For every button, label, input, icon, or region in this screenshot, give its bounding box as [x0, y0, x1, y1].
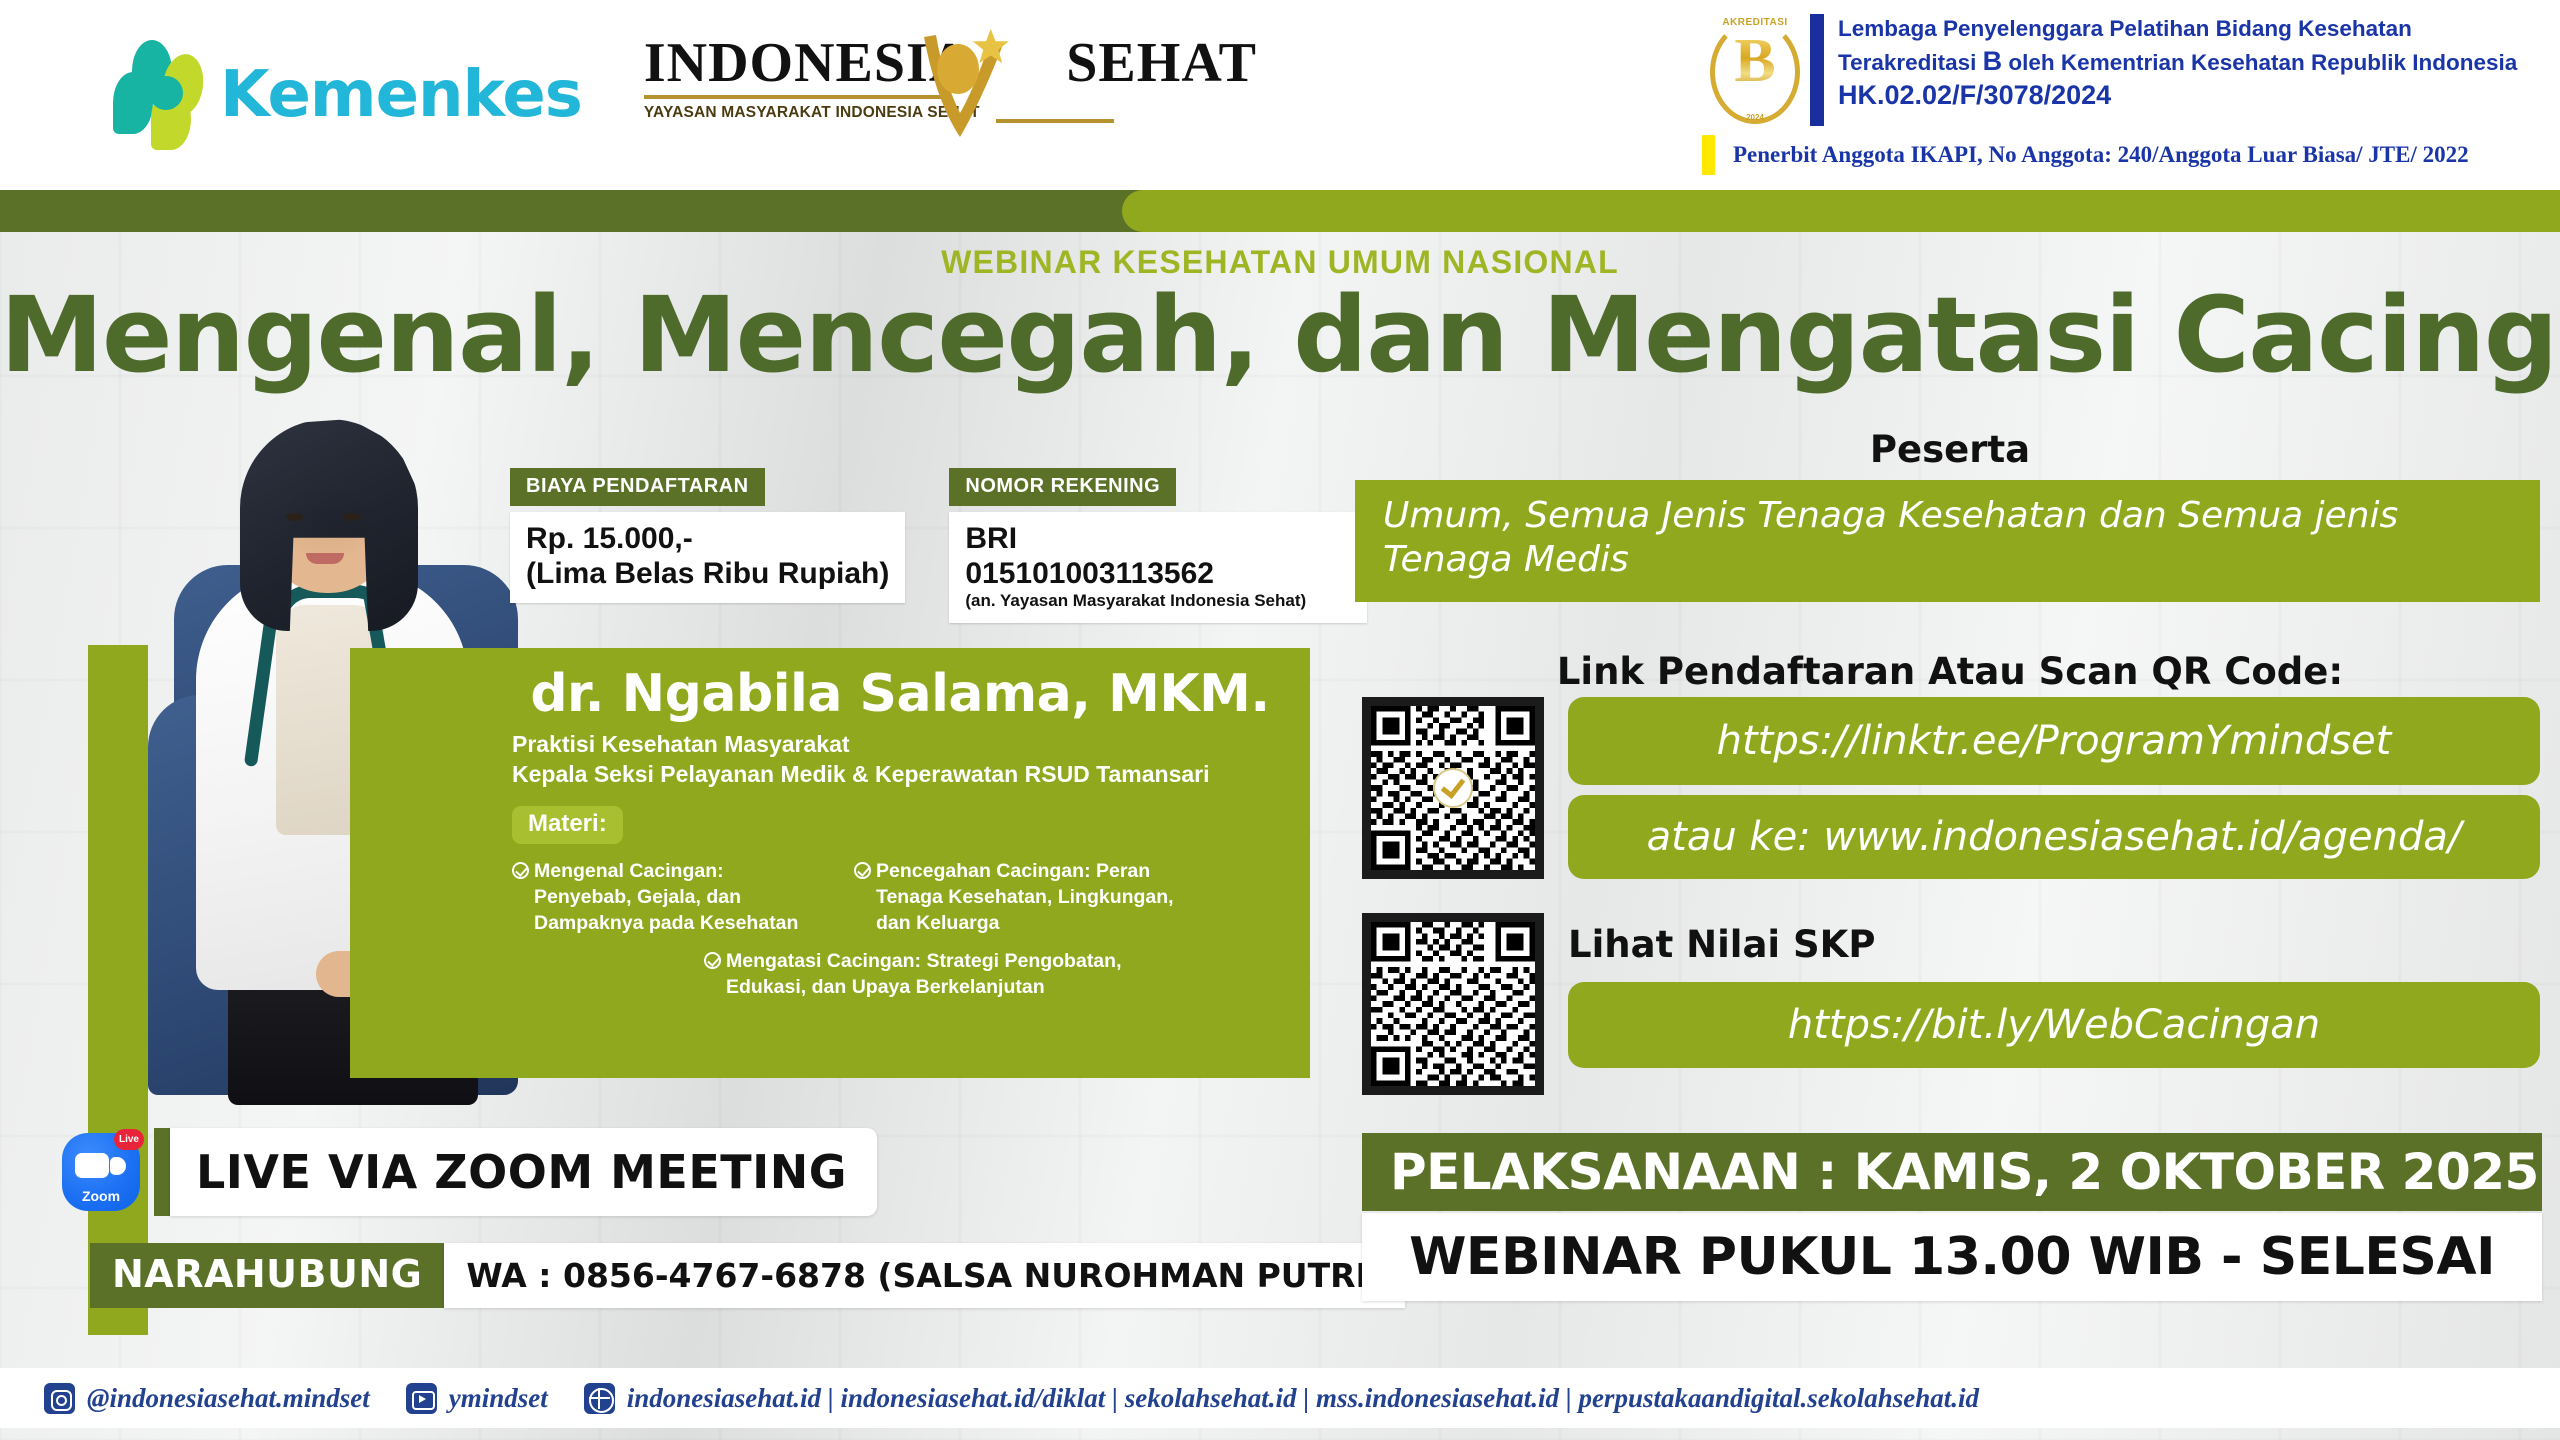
contact-row: NARAHUBUNG WA : 0856-4767-6878 (SALSA NU…	[90, 1243, 1405, 1308]
bank-name: BRI	[965, 522, 1351, 557]
schedule-date-box: PELAKSANAAN : KAMIS, 2 OKTOBER 2025	[1362, 1133, 2542, 1211]
kemenkes-mark-icon	[105, 40, 210, 150]
registration-qr-code[interactable]	[1362, 697, 1544, 879]
check-icon	[512, 862, 529, 879]
schedule-date: PELAKSANAAN : KAMIS, 2 OKTOBER 2025	[1390, 1143, 2539, 1201]
speaker-role-2: Kepala Seksi Pelayanan Medik & Keperawat…	[512, 760, 1288, 790]
topics-list: Mengenal Cacingan: Penyebab, Gejala, dan…	[512, 858, 1288, 1001]
account-holder: (an. Yayasan Masyarakat Indonesia Sehat)	[965, 591, 1351, 611]
check-icon	[854, 862, 871, 879]
fee-amount: Rp. 15.000,-	[526, 522, 889, 557]
live-badge: Live	[114, 1129, 144, 1150]
account-tag-label: NOMOR REKENING	[949, 468, 1176, 506]
kemenkes-logo: Kemenkes	[105, 40, 582, 150]
poster-background: Kemenkes INDONESIA SEHAT YAYASAN MASYARA…	[0, 0, 2560, 1440]
footer-item-youtube[interactable]: ymindset	[406, 1383, 548, 1414]
contact-value-box[interactable]: WA : 0856-4767-6878 (SALSA NUROHMAN PUTR…	[444, 1243, 1405, 1308]
indonesia-sehat-word2: SEHAT	[1066, 35, 1257, 91]
schedule-time-box: WEBINAR PUKUL 13.00 WIB - SELESAI	[1362, 1213, 2542, 1301]
topic-item: Mengatasi Cacingan: Strategi Pengobatan,…	[620, 948, 1180, 1000]
speaker-name: dr. Ngabila Salama, MKM.	[512, 666, 1288, 723]
registration-fee-block: BIAYA PENDAFTARAN Rp. 15.000,- (Lima Bel…	[510, 468, 905, 623]
header-divider-band	[0, 190, 2560, 232]
topic-item: Pencegahan Cacingan: Peran Tenaga Keseha…	[854, 858, 1174, 936]
accreditation-line-2: Terakreditasi B oleh Kementrian Kesehata…	[1838, 44, 2517, 80]
materi-badge: Materi:	[512, 806, 623, 844]
accreditation-block: AKREDITASI B 2024 Lembaga Penyelenggara …	[1702, 14, 2502, 175]
skp-heading: Lihat Nilai SKP	[1568, 923, 1875, 966]
poster-header: Kemenkes INDONESIA SEHAT YAYASAN MASYARA…	[0, 0, 2560, 190]
topic-item: Mengenal Cacingan: Penyebab, Gejala, dan…	[512, 858, 812, 936]
contact-whatsapp[interactable]: WA : 0856-4767-6878 (SALSA NUROHMAN PUTR…	[466, 1256, 1383, 1295]
registration-link-1[interactable]: https://linktr.ee/ProgramYmindset	[1568, 697, 2540, 785]
platform-label-box: LIVE VIA ZOOM MEETING	[170, 1128, 877, 1216]
registration-link-2[interactable]: atau ke: www.indonesiasehat.id/agenda/	[1568, 795, 2540, 879]
website-icon	[584, 1383, 615, 1414]
bank-account-block: NOMOR REKENING BRI 015101003113562 (an. …	[949, 468, 1367, 623]
registration-heading: Link Pendaftaran Atau Scan QR Code:	[1355, 650, 2545, 693]
footer-item-websites[interactable]: indonesiasehat.id | indonesiasehat.id/di…	[584, 1383, 1979, 1414]
webinar-title: Mengenal, Mencegah, dan Mengatasi Cacing…	[0, 274, 2560, 396]
accreditation-blue-bar	[1810, 14, 1824, 126]
check-icon	[704, 952, 721, 969]
platform-row: Zoom Live LIVE VIA ZOOM MEETING	[62, 1128, 877, 1216]
account-value-box: BRI 015101003113562 (an. Yayasan Masyara…	[949, 512, 1367, 623]
contact-tag-label: NARAHUBUNG	[90, 1243, 444, 1308]
ikapi-membership-line: Penerbit Anggota IKAPI, No Anggota: 240/…	[1733, 142, 2469, 168]
skp-qr-code[interactable]	[1362, 913, 1544, 1095]
checkmark-star-icon	[906, 29, 1026, 149]
qr-center-logo-icon	[1433, 768, 1473, 808]
indonesia-sehat-logo: INDONESIA SEHAT YAYASAN MASYARAKAT INDON…	[644, 35, 1114, 155]
logo-underline	[644, 95, 944, 99]
ikapi-yellow-bar	[1702, 135, 1715, 175]
speaker-panel: dr. Ngabila Salama, MKM. Praktisi Keseha…	[350, 648, 1310, 1078]
participants-heading: Peserta	[1355, 428, 2545, 471]
accreditation-line-1: Lembaga Penyelenggara Pelatihan Bidang K…	[1838, 14, 2517, 44]
accreditation-badge-icon: AKREDITASI B 2024	[1708, 14, 1802, 126]
fee-tag-label: BIAYA PENDAFTARAN	[510, 468, 765, 506]
footer-item-instagram[interactable]: @indonesiasehat.mindset	[44, 1383, 370, 1414]
participants-box: Umum, Semua Jenis Tenaga Kesehatan dan S…	[1355, 480, 2540, 602]
accreditation-number: HK.02.02/F/3078/2024	[1838, 79, 2517, 113]
skp-link[interactable]: https://bit.ly/WebCacingan	[1568, 982, 2540, 1068]
zoom-icon: Zoom Live	[62, 1133, 140, 1211]
platform-label: LIVE VIA ZOOM MEETING	[196, 1145, 847, 1199]
instagram-icon	[44, 1383, 75, 1414]
schedule-time: WEBINAR PUKUL 13.00 WIB - SELESAI	[1409, 1227, 2495, 1287]
fee-value-box: Rp. 15.000,- (Lima Belas Ribu Rupiah)	[510, 512, 905, 603]
youtube-icon	[406, 1383, 437, 1414]
fee-account-group: BIAYA PENDAFTARAN Rp. 15.000,- (Lima Bel…	[510, 468, 1367, 623]
participants-value: Umum, Semua Jenis Tenaga Kesehatan dan S…	[1383, 494, 2512, 582]
fee-amount-words: (Lima Belas Ribu Rupiah)	[526, 557, 889, 592]
speaker-role-1: Praktisi Kesehatan Masyarakat	[512, 730, 1288, 760]
account-number: 015101003113562	[965, 557, 1351, 592]
kemenkes-logo-text: Kemenkes	[220, 58, 582, 132]
footer-bar: @indonesiasehat.mindset ymindset indones…	[0, 1368, 2560, 1428]
